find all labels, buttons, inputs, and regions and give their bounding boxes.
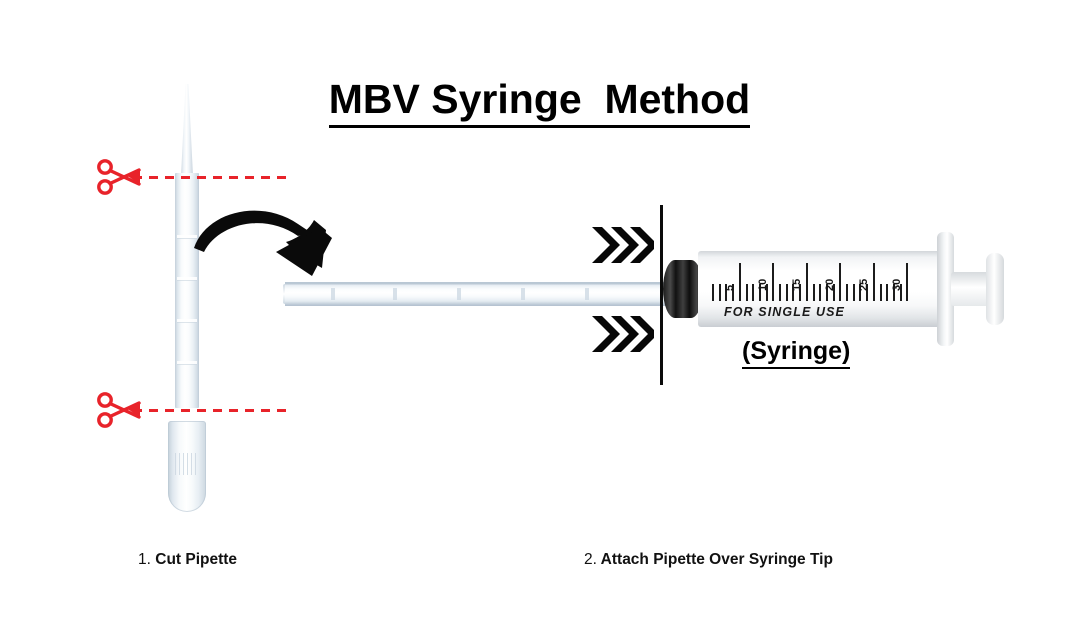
graduation-tick-minor xyxy=(752,284,754,301)
graduation-tick-major xyxy=(806,263,808,301)
graduation-tick-minor xyxy=(813,284,815,301)
illustration-canvas: MBV Syringe Method xyxy=(0,0,1079,633)
graduation-number: 15 xyxy=(791,279,803,291)
graduation-tick-major xyxy=(772,263,774,301)
step-1-label: Cut Pipette xyxy=(155,551,237,568)
scissors-icon xyxy=(96,391,144,434)
graduation-tick-major xyxy=(739,263,741,301)
graduation-tick-minor xyxy=(846,284,848,301)
pipette-horizontal xyxy=(285,282,668,306)
graduation-tick-minor xyxy=(746,284,748,301)
graduation-tick-major xyxy=(906,263,908,301)
graduation-number: 5 xyxy=(724,285,736,291)
graduation-tick-minor xyxy=(819,284,821,301)
page-title-text: MBV Syringe Method xyxy=(329,76,750,128)
syringe-stopper xyxy=(663,260,703,318)
graduation-number: 25 xyxy=(858,279,870,291)
single-use-text: FOR SINGLE USE xyxy=(724,305,845,319)
graduation-tick-minor xyxy=(779,284,781,301)
step-2-caption: 2. Attach Pipette Over Syringe Tip xyxy=(584,551,833,569)
pipette-bulb xyxy=(168,421,206,512)
curved-arrow-icon xyxy=(190,196,350,291)
graduation-tick-major xyxy=(839,263,841,301)
graduation-number: 10 xyxy=(757,279,769,291)
page-title: MBV Syringe Method xyxy=(0,76,1079,123)
graduation-number: 30 xyxy=(891,279,903,291)
pipette-bulb-ridges xyxy=(175,453,199,475)
graduation-tick-minor xyxy=(712,284,714,301)
cut-line-upper xyxy=(133,176,288,179)
graduation-tick-minor xyxy=(786,284,788,301)
step-2-number: 2. xyxy=(584,551,597,568)
scissors-icon xyxy=(96,158,144,201)
step-2-label: Attach Pipette Over Syringe Tip xyxy=(601,551,833,568)
syringe-caption-text: (Syringe) xyxy=(742,337,850,369)
syringe-thumb-pad xyxy=(986,253,1004,325)
graduation-tick-major xyxy=(873,263,875,301)
graduation-tick-minor xyxy=(886,284,888,301)
graduation-tick-minor xyxy=(880,284,882,301)
step-1-caption: 1. Cut Pipette xyxy=(138,551,237,569)
triple-chevron-right-icon xyxy=(590,224,654,271)
graduation-tick-minor xyxy=(719,284,721,301)
graduation-tick-minor xyxy=(853,284,855,301)
syringe-barrel: 51015202530 FOR SINGLE USE xyxy=(698,251,943,327)
triple-chevron-right-icon xyxy=(590,313,654,360)
syringe-caption: (Syringe) xyxy=(742,337,850,366)
step-1-number: 1. xyxy=(138,551,151,568)
graduation-number: 20 xyxy=(824,279,836,291)
cut-line-lower xyxy=(133,409,288,412)
